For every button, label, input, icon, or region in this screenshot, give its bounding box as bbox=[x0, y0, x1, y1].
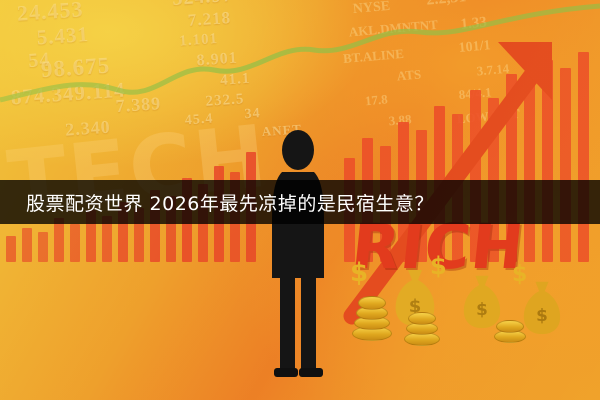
caption-band: 股票配资世界 2026年最先凉掉的是民宿生意？ bbox=[0, 180, 600, 224]
dollar-sign-icon: $ bbox=[350, 258, 368, 288]
money-bag: $ bbox=[520, 278, 564, 336]
coin-stack bbox=[352, 296, 390, 340]
svg-text:$: $ bbox=[536, 305, 548, 325]
svg-text:$: $ bbox=[476, 299, 488, 319]
image-canvas: 24.453 324.97 5.431 7.218 54 1.101 98.67… bbox=[0, 0, 600, 400]
caption-text: 股票配资世界 2026年最先凉掉的是民宿生意？ bbox=[26, 189, 434, 216]
coin-stack bbox=[404, 312, 438, 344]
coin-stack bbox=[494, 316, 524, 342]
businessman-silhouette bbox=[258, 128, 338, 378]
